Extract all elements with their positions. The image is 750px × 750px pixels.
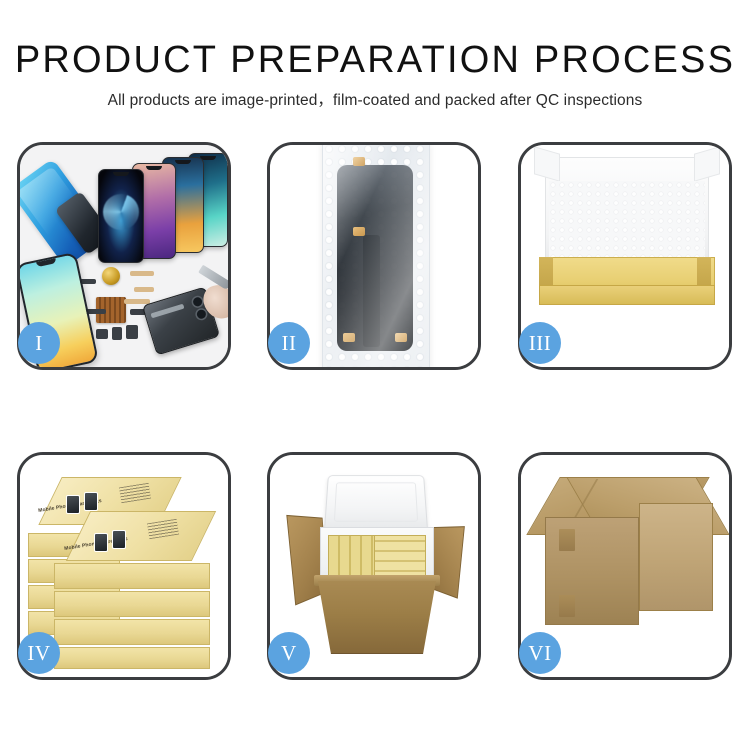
sealed-carton-right-face-icon <box>639 503 713 611</box>
carton-tape-top-icon <box>559 529 575 551</box>
box-artwork-phone-2b <box>112 530 126 549</box>
header: PRODUCT PREPARATION PROCESS All products… <box>0 38 750 110</box>
step-badge-4: IV <box>18 632 60 674</box>
carton-tape-bottom-icon <box>559 595 575 617</box>
tape-tab-3-icon <box>343 333 355 342</box>
step-panel-4[interactable]: Mobile Phone Spare Parts Mobile Phone Sp… <box>17 452 231 680</box>
carton-body-icon <box>318 581 436 654</box>
part-button-icon <box>112 327 122 340</box>
stacked-box-icon <box>54 591 210 617</box>
tape-tab-1-icon <box>353 157 365 166</box>
spare-parts-group <box>80 265 228 365</box>
part-chip-icon <box>96 329 108 339</box>
foam-sheet-icon <box>549 181 705 265</box>
printed-box-top-2 <box>66 511 216 561</box>
step-panel-2[interactable]: II <box>267 142 481 370</box>
page-title: PRODUCT PREPARATION PROCESS <box>0 38 750 82</box>
step-panel-1[interactable]: I <box>17 142 231 370</box>
tape-tab-4-icon <box>395 333 407 342</box>
phone-black-icon <box>98 169 144 263</box>
flex-cable-2-icon <box>134 287 154 292</box>
step-panel-3[interactable]: III <box>518 142 732 370</box>
phone-lineup <box>92 153 224 265</box>
box-artwork-phone-1a <box>66 495 80 514</box>
box-front-panel-icon <box>539 285 715 305</box>
wrapped-flex-cable-icon <box>363 235 380 347</box>
speaker-coil-icon <box>102 267 120 285</box>
retail-box-stack: Mobile Phone Spare Parts Mobile Phone Sp… <box>28 467 224 667</box>
step-badge-3: III <box>519 322 561 364</box>
step-badge-2: II <box>268 322 310 364</box>
box-artwork-phone-2a <box>94 533 108 552</box>
process-step-grid: I II <box>0 140 750 700</box>
stacked-box-icon <box>54 619 210 645</box>
step-panel-6[interactable]: VI <box>518 452 732 680</box>
product-preparation-infographic: PRODUCT PREPARATION PROCESS All products… <box>0 0 750 750</box>
tape-tab-2-icon <box>353 227 365 236</box>
step-badge-5: V <box>268 632 310 674</box>
step-badge-6: VI <box>519 632 561 674</box>
stacked-box-icon <box>54 563 210 589</box>
foam-box-lid-icon <box>324 475 428 531</box>
page-subtitle: All products are image-printed，film-coat… <box>0 88 750 110</box>
part-camera-icon <box>126 325 138 339</box>
box-artwork-phone-1b <box>84 492 98 511</box>
step-badge-1: I <box>18 322 60 364</box>
flex-cable-icon <box>130 271 154 276</box>
stacked-box-icon <box>54 647 210 669</box>
step-panel-5[interactable]: V <box>267 452 481 680</box>
bubble-wrap-sleeve-icon <box>322 145 430 367</box>
